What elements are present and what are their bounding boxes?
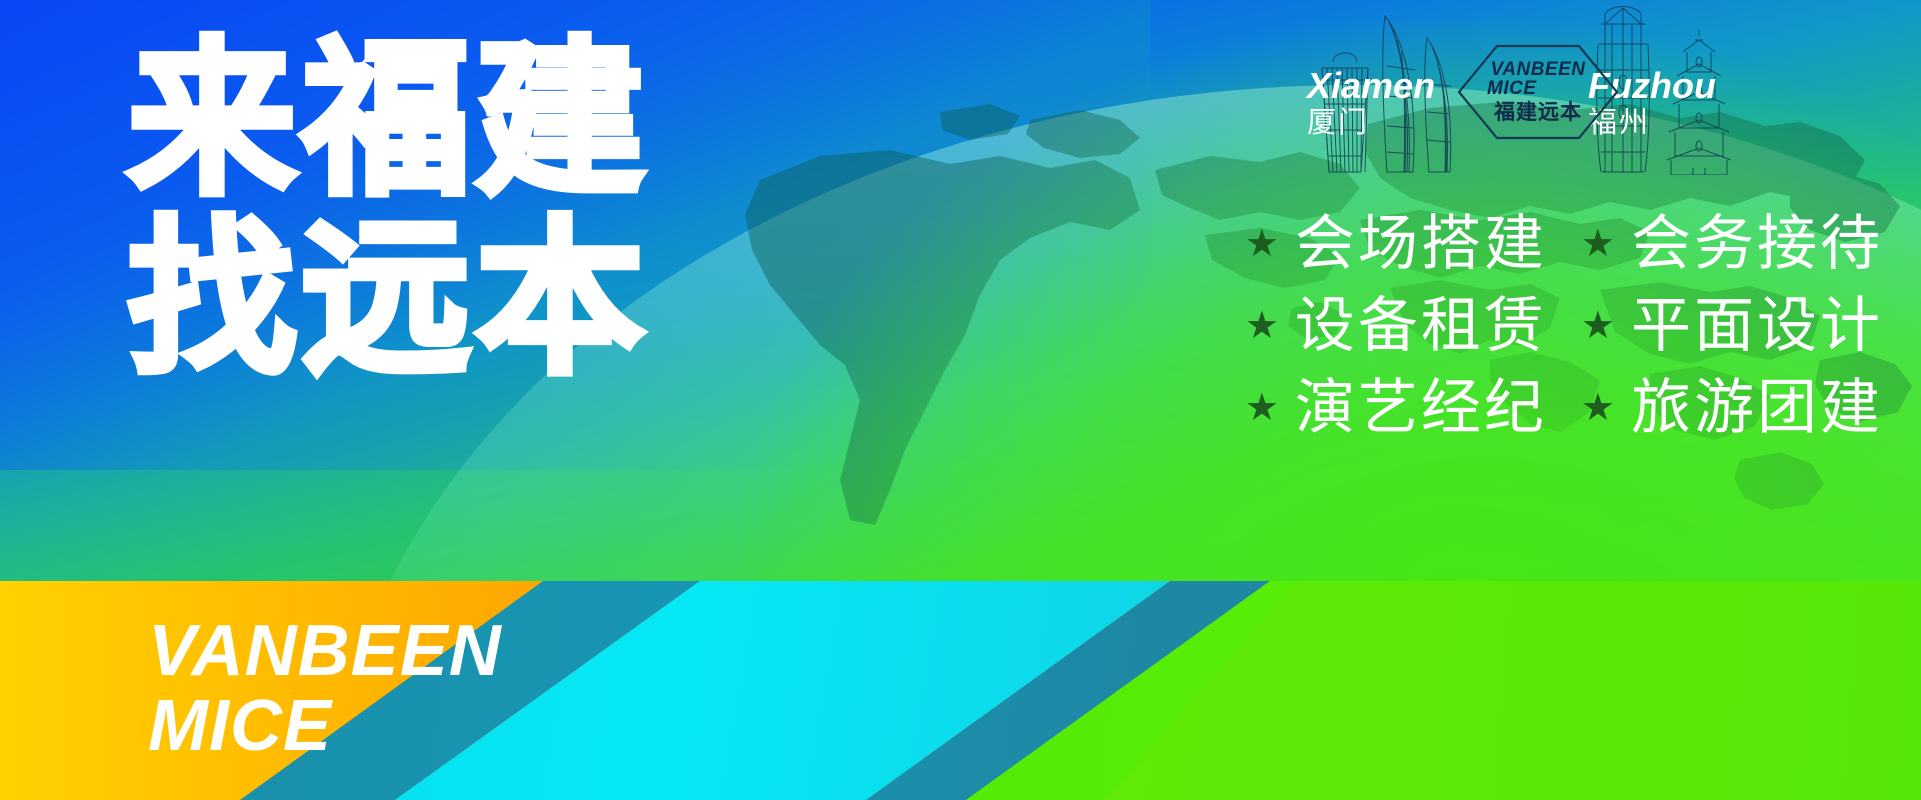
vanbeen-mice-wordmark: VANBEEN MICE xyxy=(148,615,502,764)
service-item[interactable]: ★ 会场搭建 xyxy=(1245,208,1547,280)
city-label-xiamen: Xiamen 厦门 xyxy=(1307,68,1435,140)
headline-line-2: 找远本 xyxy=(128,217,650,382)
star-icon: ★ xyxy=(1245,389,1279,427)
service-label: 旅游团建 xyxy=(1631,372,1883,444)
service-item[interactable]: ★ 设备租赁 xyxy=(1245,290,1547,362)
wordmark-line-2: MICE xyxy=(148,690,502,763)
service-label: 演艺经纪 xyxy=(1295,372,1547,444)
city-name-cn: 厦门 xyxy=(1307,104,1435,140)
service-item[interactable]: ★ 平面设计 xyxy=(1581,290,1883,362)
service-label: 平面设计 xyxy=(1631,290,1883,362)
star-icon: ★ xyxy=(1581,225,1615,263)
services-list: ★ 会场搭建 ★ 会务接待 ★ 设备租赁 ★ 平面设计 ★ 演艺经纪 ★ 旅游团… xyxy=(1245,208,1883,444)
service-item[interactable]: ★ 旅游团建 xyxy=(1581,372,1883,444)
hex-logo-line-3: 福建远本 xyxy=(1494,100,1582,124)
banner-stage: 来福建 找远本 ★ 会场搭建 ★ 会务接待 ★ 设备租赁 ★ 平面设计 ★ xyxy=(0,0,1921,581)
vanbeen-hex-logo[interactable]: VANBEEN MICE 福建远本 xyxy=(1457,44,1619,140)
service-label: 会务接待 xyxy=(1631,208,1883,280)
service-item[interactable]: ★ 会务接待 xyxy=(1581,208,1883,280)
service-label: 设备租赁 xyxy=(1295,290,1547,362)
star-icon: ★ xyxy=(1245,225,1279,263)
wordmark-line-1: VANBEEN xyxy=(148,615,502,688)
city-name-en: Xiamen xyxy=(1307,68,1435,104)
bottom-brand-bar: VANBEEN MICE xyxy=(0,581,1921,800)
star-icon: ★ xyxy=(1581,307,1615,345)
headline-line-1: 来福建 xyxy=(128,38,650,203)
star-icon: ★ xyxy=(1581,389,1615,427)
star-icon: ★ xyxy=(1245,307,1279,345)
hex-logo-line-1: VANBEEN xyxy=(1491,60,1586,79)
service-item[interactable]: ★ 演艺经纪 xyxy=(1245,372,1547,444)
city-cluster: Xiamen 厦门 Fuzhou 福州 VANBEEN MICE 福建远本 xyxy=(1305,0,1775,175)
service-label: 会场搭建 xyxy=(1295,208,1547,280)
hex-logo-line-2: MICE xyxy=(1487,79,1537,99)
page-title: 来福建 找远本 xyxy=(128,38,650,381)
promo-banner: 来福建 找远本 ★ 会场搭建 ★ 会务接待 ★ 设备租赁 ★ 平面设计 ★ xyxy=(0,0,1921,800)
hex-logo-text: VANBEEN MICE 福建远本 xyxy=(1457,44,1619,140)
